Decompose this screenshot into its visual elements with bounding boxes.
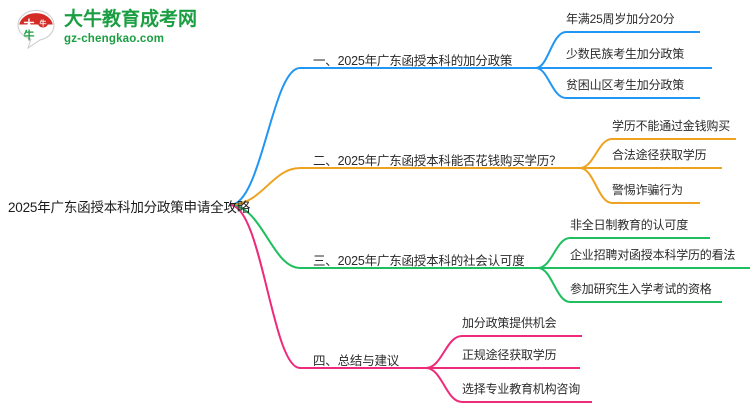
- mindmap-root-node[interactable]: 2025年广东函授本科加分政策申请全攻略: [8, 196, 250, 216]
- mindmap-branch-node-1[interactable]: 一、2025年广东函授本科的加分政策: [313, 50, 512, 69]
- edge-root-to-branch-4: [230, 205, 426, 368]
- logo-title: 大牛教育成考网: [64, 9, 197, 31]
- mindmap-branch-node-2[interactable]: 二、2025年广东函授本科能否花钱购买学历？: [313, 150, 561, 169]
- svg-text:大: 大: [24, 17, 35, 31]
- da-niu-bull-icon: 大 牛 牛: [14, 8, 58, 50]
- mindmap-leaf-node-4-3[interactable]: 选择专业教育机构咨询: [462, 380, 580, 397]
- mindmap-branch-node-3[interactable]: 三、2025年广东函授本科的社会认可度: [313, 250, 525, 269]
- mindmap-leaf-node-3-1[interactable]: 非全日制教育的认可度: [570, 216, 688, 233]
- mindmap-canvas: 大 牛 牛 大牛教育成考网 gz-chengkao.com: [0, 0, 750, 410]
- logo-domain: gz-chengkao.com: [64, 32, 197, 46]
- svg-text:牛: 牛: [24, 28, 35, 42]
- mindmap-leaf-node-1-3[interactable]: 贫困山区考生加分政策: [566, 76, 684, 93]
- mindmap-leaf-node-4-2[interactable]: 正规途径获取学历: [462, 346, 556, 363]
- mindmap-leaf-node-1-1[interactable]: 年满25周岁加分20分: [566, 10, 675, 27]
- site-logo[interactable]: 大 牛 牛 大牛教育成考网 gz-chengkao.com: [14, 6, 194, 54]
- edge-root-to-branch-1: [230, 68, 536, 205]
- mindmap-leaf-node-1-2[interactable]: 少数民族考生加分政策: [566, 45, 684, 62]
- edge-root-to-branch-2: [230, 168, 580, 205]
- mindmap-leaf-node-3-2[interactable]: 企业招聘对函授本科学历的看法: [570, 246, 735, 263]
- mindmap-leaf-node-2-1[interactable]: 学历不能通过金钱购买: [612, 117, 730, 134]
- logo-text: 大牛教育成考网 gz-chengkao.com: [64, 9, 197, 46]
- mindmap-branch-node-4[interactable]: 四、总结与建议: [313, 350, 399, 369]
- mindmap-leaf-node-3-3[interactable]: 参加研究生入学考试的资格: [570, 280, 712, 297]
- mindmap-leaf-node-4-1[interactable]: 加分政策提供机会: [462, 314, 556, 331]
- mindmap-leaf-node-2-2[interactable]: 合法途径获取学历: [612, 146, 706, 163]
- mindmap-leaf-node-2-3[interactable]: 警惕诈骗行为: [612, 181, 683, 198]
- svg-text:牛: 牛: [40, 19, 47, 28]
